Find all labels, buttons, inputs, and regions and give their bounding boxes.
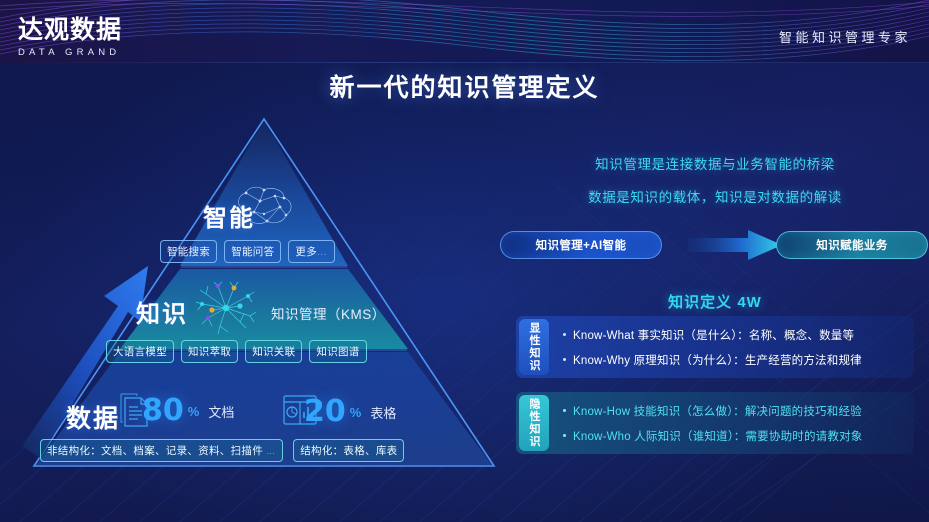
stat-tables-percent: % <box>350 405 362 420</box>
tag-knowledge-linking[interactable]: 知识关联 <box>245 340 302 363</box>
tag-knowledge-graph[interactable]: 知识图谱 <box>309 340 366 363</box>
tier-label-knowledge: 知识 <box>136 294 188 329</box>
stat-documents-percent: % <box>188 404 200 419</box>
bullet-dot <box>563 409 566 412</box>
tacit-knowledge-list: Know-How 技能知识（怎么做）：解决问题的技巧和经验 Know-Who 人… <box>549 392 914 454</box>
tier-label-data: 数据 <box>66 399 120 435</box>
stat-documents-value: 80 <box>142 396 184 426</box>
list-item: Know-What 事实知识（是什么）：名称、概念、数量等 <box>563 327 906 343</box>
tag-unstructured[interactable]: 非结构化：文档、档案、记录、资料、扫描件 … <box>40 439 283 462</box>
bullet-dot <box>563 358 566 361</box>
tag-knowledge-extraction[interactable]: 知识萃取 <box>181 340 238 363</box>
bullet-dot <box>563 434 566 437</box>
logo-text-cn: 达观数据 <box>18 16 138 44</box>
tag-llm[interactable]: 大语言模型 <box>106 340 174 363</box>
list-item: Know-Who 人际知识（谁知道）：需要协助时的请教对象 <box>563 428 906 444</box>
tag-structured[interactable]: 结构化：表格、库表 <box>293 439 404 462</box>
brand-logo: 达观数据 DATA GRAND <box>18 16 138 58</box>
pill-knowledge-ai[interactable]: 知识管理+AI智能 <box>500 231 662 259</box>
tier-tags-knowledge: 大语言模型 知识萃取 知识关联 知识图谱 <box>106 340 367 363</box>
stat-tables-unit: 表格 <box>370 403 396 422</box>
fourw-title: 知识定义 4W <box>506 291 924 312</box>
tacit-knowledge-tab: 隐性知识 <box>519 395 549 451</box>
know-who-text: Know-Who 人际知识（谁知道）：需要协助时的请教对象 <box>573 428 863 444</box>
explicit-knowledge-list: Know-What 事实知识（是什么）：名称、概念、数量等 Know-Why 原… <box>549 316 914 378</box>
stat-documents-unit: 文档 <box>208 402 234 421</box>
list-item: Know-How 技能知识（怎么做）：解决问题的技巧和经验 <box>563 403 906 419</box>
header-tagline-reflection: 智能知识管理专家 <box>779 33 911 43</box>
list-item: Know-Why 原理知识（为什么）：生产经营的方法和规律 <box>563 352 906 368</box>
flow-pills: 知识管理+AI智能 知识赋能业务 <box>500 231 928 259</box>
kms-caption: 知识管理（KMS） <box>271 303 386 323</box>
know-what-text: Know-What 事实知识（是什么）：名称、概念、数量等 <box>573 327 854 343</box>
stat-documents: 80 % 文档 <box>142 396 234 426</box>
tier-label-intelligence: 智能 <box>203 198 255 233</box>
know-how-text: Know-How 技能知识（怎么做）：解决问题的技巧和经验 <box>573 403 862 419</box>
right-arrow-icon <box>686 228 786 262</box>
tier-tags-data: 非结构化：文档、档案、记录、资料、扫描件 … 结构化：表格、库表 <box>40 439 404 462</box>
lead-line-1: 知识管理是连接数据与业务智能的桥梁 <box>506 153 924 173</box>
stat-tables-value: 20 <box>304 397 346 427</box>
bullet-dot <box>563 333 566 336</box>
lead-line-2: 数据是知识的载体，知识是对数据的解读 <box>506 186 924 206</box>
tag-more[interactable]: 更多... <box>288 240 334 263</box>
page-title: 新一代的知识管理定义 <box>0 68 929 104</box>
know-why-text: Know-Why 原理知识（为什么）：生产经营的方法和规律 <box>573 352 862 368</box>
tier-tags-intelligence: 智能搜索 智能问答 更多... <box>160 240 335 263</box>
tag-smart-search[interactable]: 智能搜索 <box>160 240 217 263</box>
logo-text-en: DATA GRAND <box>18 47 138 58</box>
header-band: 达观数据 DATA GRAND 智能知识管理专家 智能知识管理专家 <box>0 0 929 63</box>
pill-knowledge-enable-business[interactable]: 知识赋能业务 <box>776 231 928 259</box>
tag-smart-qa[interactable]: 智能问答 <box>224 240 281 263</box>
pyramid-diagram: 智能 智能搜索 智能问答 更多... 知识 知识管理（KMS） 大语言模型 知识… <box>18 116 510 472</box>
tacit-knowledge-box: 隐性知识 Know-How 技能知识（怎么做）：解决问题的技巧和经验 Know-… <box>516 392 914 454</box>
stat-tables: 20 % 表格 <box>304 397 396 427</box>
explicit-knowledge-box: 显性知识 Know-What 事实知识（是什么）：名称、概念、数量等 Know-… <box>516 316 914 378</box>
slide-canvas: 达观数据 DATA GRAND 智能知识管理专家 智能知识管理专家 新一代的知识… <box>0 0 929 522</box>
explicit-knowledge-tab: 显性知识 <box>519 319 549 375</box>
